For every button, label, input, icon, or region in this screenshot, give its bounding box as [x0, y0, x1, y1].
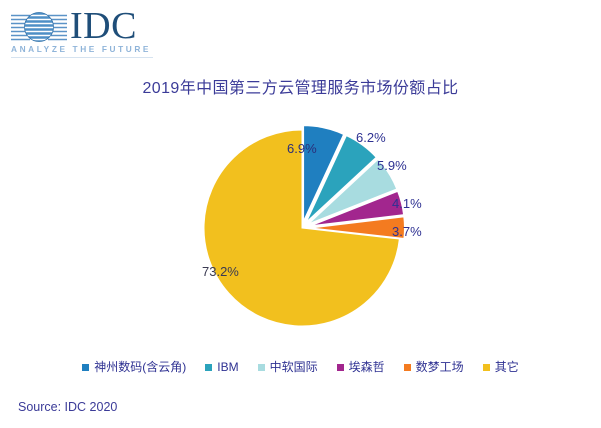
legend-label: 其它: [495, 360, 519, 374]
idc-tagline: ANALYZE THE FUTURE: [11, 44, 151, 54]
legend-label: 数梦工场: [416, 360, 464, 374]
legend-item-aisenzhe[interactable]: 埃森哲: [337, 360, 385, 374]
pie-label-aisenzhe: 4.1%: [392, 196, 422, 211]
logo-divider: [11, 57, 153, 58]
legend-swatch-icon: [483, 364, 490, 371]
chart-page: IDC ANALYZE THE FUTURE 2019年中国第三方云管理服务市场…: [0, 0, 601, 428]
idc-striped-globe-icon: [10, 10, 68, 44]
legend-item-shumeng[interactable]: 数梦工场: [404, 360, 464, 374]
legend-swatch-icon: [258, 364, 265, 371]
chart-legend: 神州数码(含云角) IBM 中软国际 埃森哲 数梦工场 其它: [0, 360, 601, 374]
legend-label: 埃森哲: [349, 360, 385, 374]
legend-item-qita[interactable]: 其它: [483, 360, 519, 374]
legend-label: 中软国际: [270, 360, 318, 374]
pie-label-shenzhou: 6.9%: [287, 141, 317, 156]
source-note: Source: IDC 2020: [18, 400, 117, 414]
legend-label: IBM: [217, 360, 238, 374]
idc-wordmark: IDC: [70, 6, 137, 46]
pie-label-ibm: 6.2%: [356, 130, 386, 145]
legend-swatch-icon: [337, 364, 344, 371]
legend-item-shenzhou[interactable]: 神州数码(含云角): [82, 360, 186, 374]
legend-swatch-icon: [404, 364, 411, 371]
legend-label: 神州数码(含云角): [94, 360, 186, 374]
chart-title: 2019年中国第三方云管理服务市场份额占比: [0, 74, 601, 98]
legend-swatch-icon: [205, 364, 212, 371]
pie-chart: 6.9% 6.2% 5.9% 4.1% 3.7% 73.2%: [0, 104, 601, 352]
legend-item-ibm[interactable]: IBM: [205, 360, 238, 374]
pie-label-qita: 73.2%: [202, 264, 239, 279]
idc-logo: IDC ANALYZE THE FUTURE: [8, 8, 158, 58]
legend-swatch-icon: [82, 364, 89, 371]
legend-item-zhongruan[interactable]: 中软国际: [258, 360, 318, 374]
pie-label-shumeng: 3.7%: [392, 224, 422, 239]
pie-label-zhongruan: 5.9%: [377, 158, 407, 173]
